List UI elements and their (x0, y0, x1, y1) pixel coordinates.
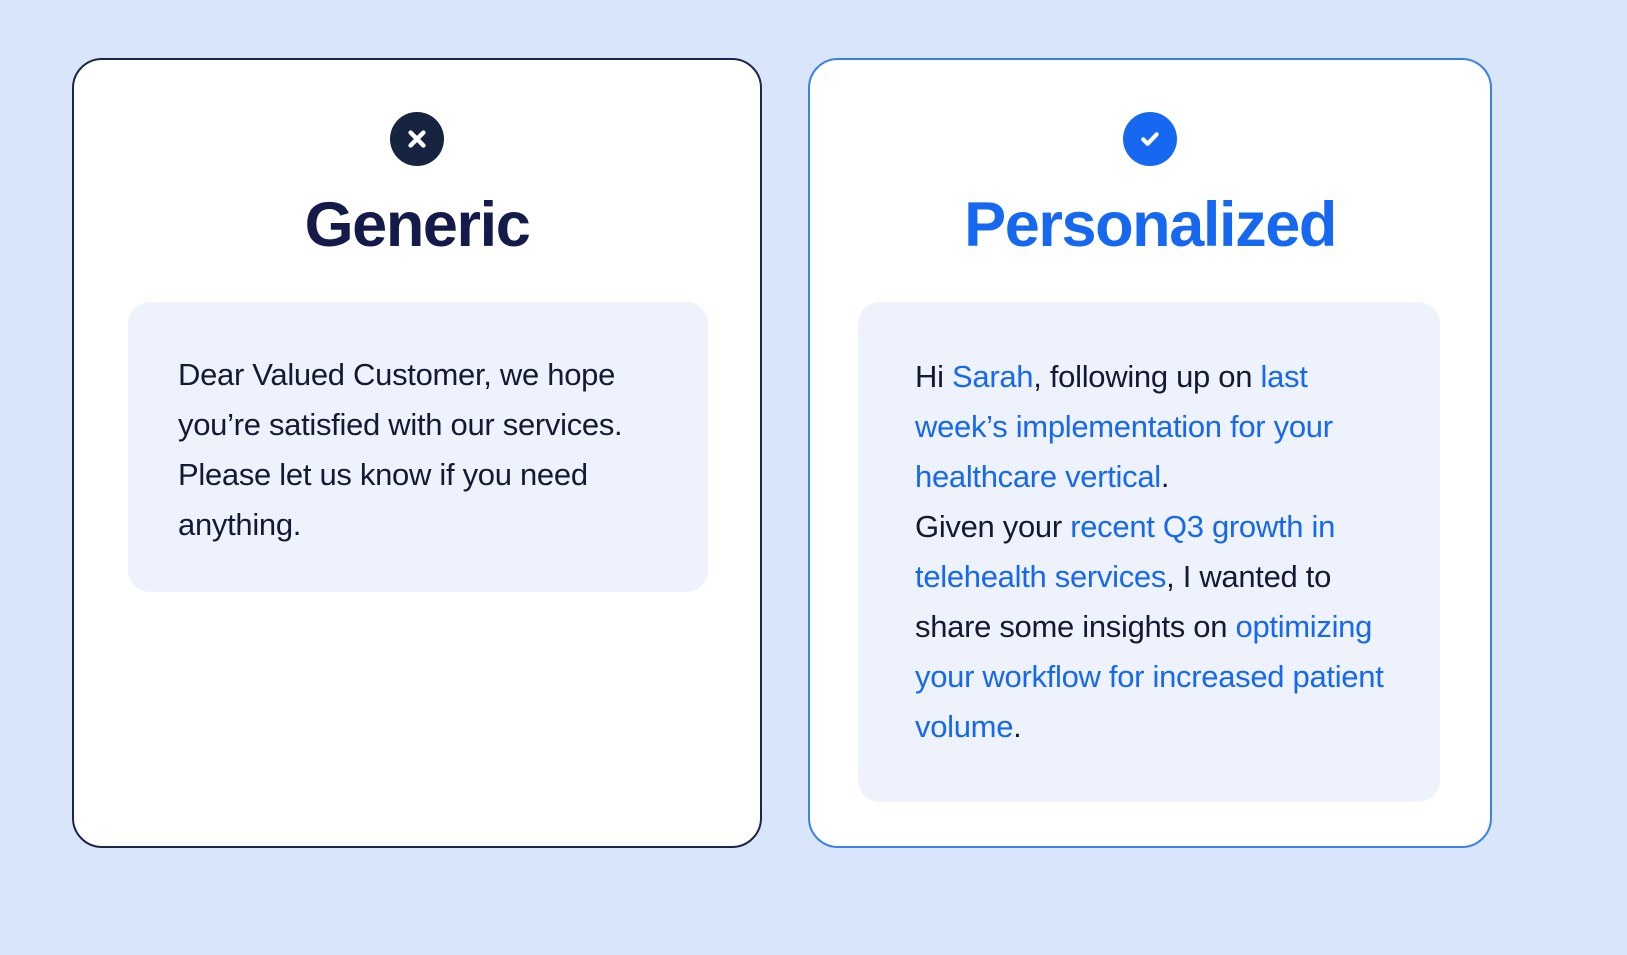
personalized-badge-wrap (810, 112, 1490, 166)
x-circle-icon (390, 112, 444, 166)
generic-message-text: Dear Valued Customer, we hope you’re sat… (178, 350, 664, 550)
check-circle-icon (1123, 112, 1177, 166)
generic-message-box: Dear Valued Customer, we hope you’re sat… (128, 302, 708, 592)
generic-badge-wrap (74, 112, 760, 166)
comparison-stage: Generic Dear Valued Customer, we hope yo… (0, 0, 1627, 955)
personalized-message-text: Hi Sarah, following up on last week’s im… (915, 352, 1401, 752)
generic-card: Generic Dear Valued Customer, we hope yo… (72, 58, 762, 848)
personalized-message-box: Hi Sarah, following up on last week’s im… (858, 302, 1440, 802)
personalized-card: Personalized Hi Sarah, following up on l… (808, 58, 1492, 848)
personalized-title: Personalized (810, 194, 1490, 257)
generic-title: Generic (74, 194, 760, 257)
